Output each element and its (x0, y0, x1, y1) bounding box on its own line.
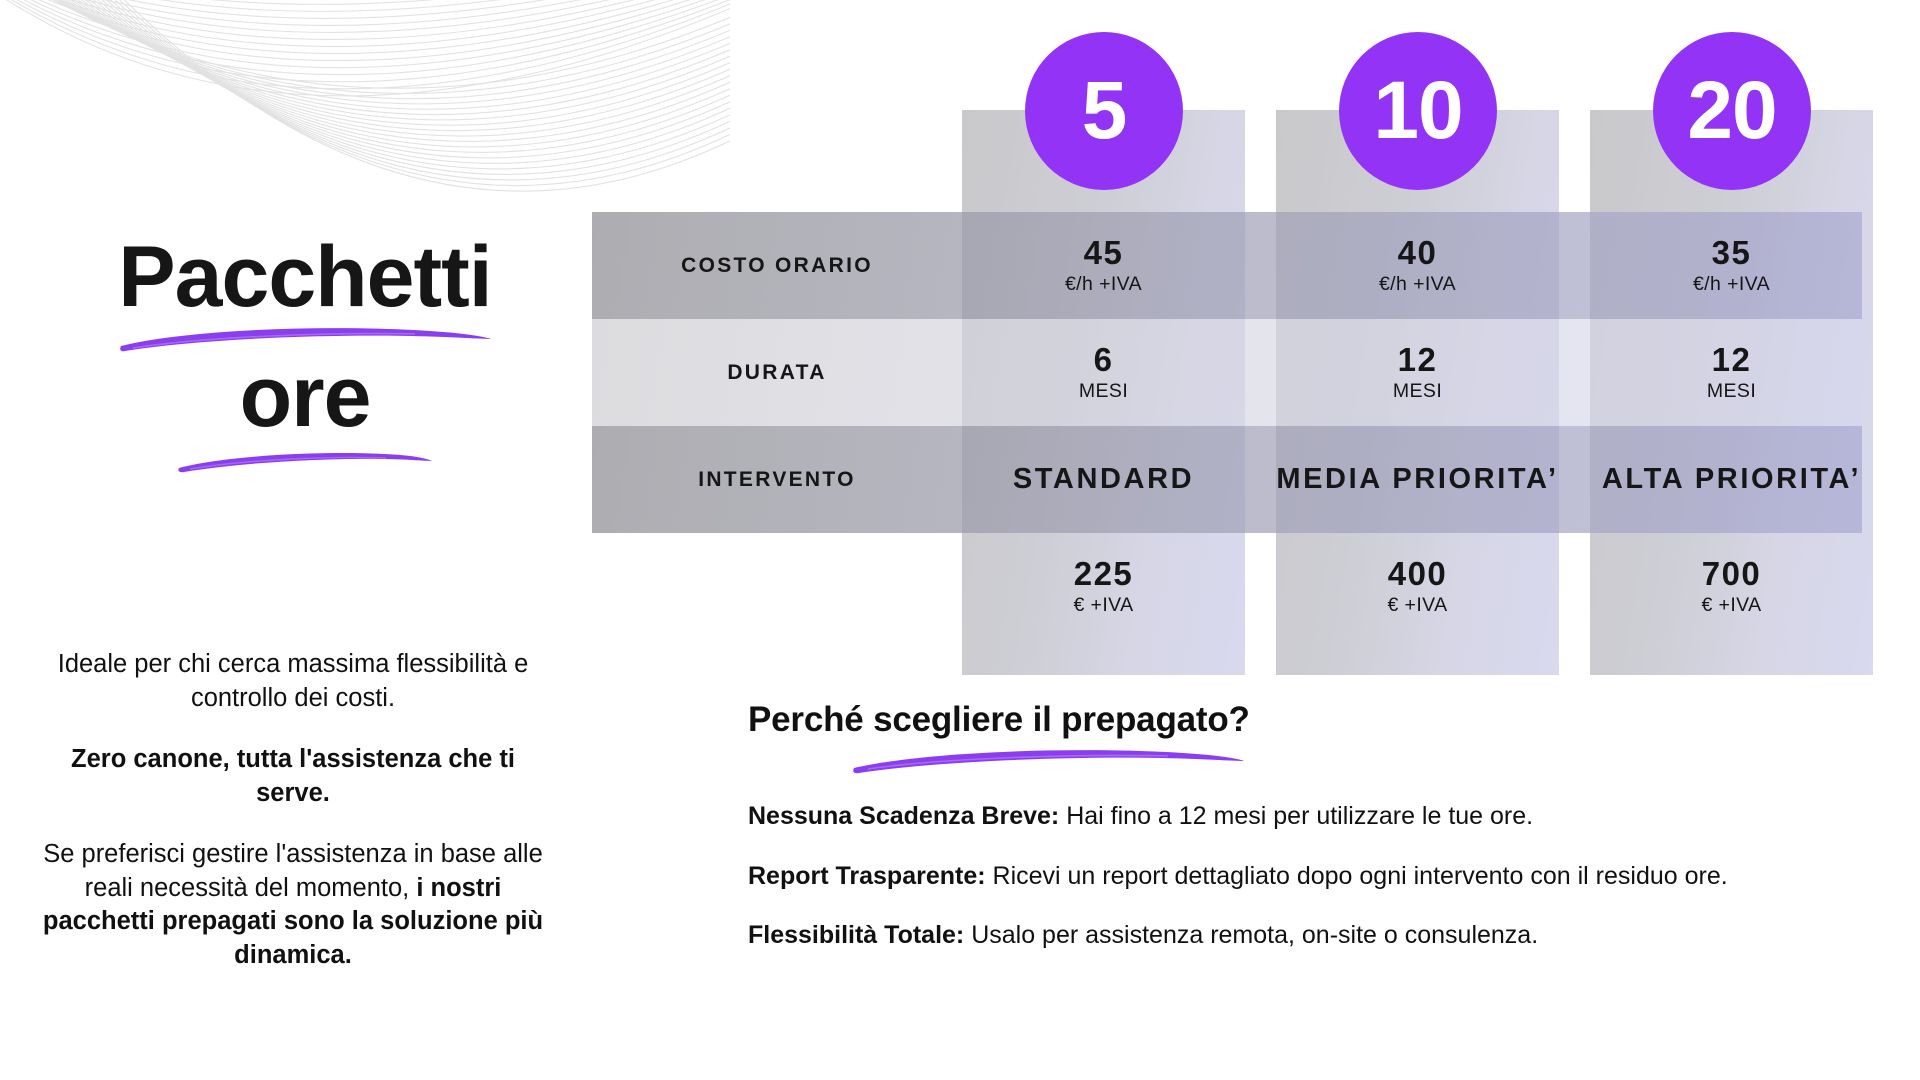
cell-value: 35 (1712, 235, 1752, 271)
row-label-durata: DURATA (592, 319, 962, 426)
cell-value: 225 (1074, 556, 1134, 592)
benefit-rest: Hai fino a 12 mesi per utilizzare le tue… (1059, 802, 1533, 830)
hours-badge-5: 5 (1025, 32, 1183, 190)
cell-value: 12 (1398, 342, 1438, 378)
cell-unit: MESI (1079, 380, 1128, 403)
cell-costo-orario-20: 35 €/h +IVA (1590, 212, 1873, 319)
brush-underline-why (848, 744, 1248, 776)
left-paragraph-2: Zero canone, tutta l'assistenza che ti s… (38, 743, 548, 811)
row-label-intervento: INTERVENTO (592, 426, 962, 533)
cell-value: ALTA PRIORITA’ (1602, 462, 1861, 497)
left-paragraph-3: Se preferisci gestire l'assistenza in ba… (38, 838, 548, 974)
cell-prezzo-20: 700 € +IVA (1590, 533, 1873, 640)
benefit-rest: Usalo per assistenza remota, on-site o c… (964, 921, 1538, 949)
brush-underline-title-2 (174, 448, 436, 476)
cell-costo-orario-5: 45 €/h +IVA (962, 212, 1245, 319)
why-benefit-item: Report Trasparente: Ricevi un report det… (748, 860, 1878, 894)
cell-prezzo-10: 400 € +IVA (1276, 533, 1559, 640)
slide-canvas: Pacchetti ore Ideale per chi cerca massi… (0, 0, 1920, 1080)
benefit-lead: Nessuna Scadenza Breve: (748, 802, 1059, 830)
why-benefit-item: Flessibilità Totale: Usalo per assistenz… (748, 919, 1878, 953)
why-section-title: Perché scegliere il prepagato? (748, 700, 1878, 740)
why-benefits-list: Nessuna Scadenza Breve: Hai fino a 12 me… (748, 800, 1878, 953)
hours-badge-20: 20 (1653, 32, 1811, 190)
cell-value: 40 (1398, 235, 1438, 271)
cell-intervento-10: MEDIA PRIORITA’ (1276, 426, 1559, 533)
cell-value: STANDARD (1013, 462, 1194, 497)
cell-durata-5: 6 MESI (962, 319, 1245, 426)
cell-value: 700 (1702, 556, 1762, 592)
cell-intervento-5: STANDARD (962, 426, 1245, 533)
cell-unit: €/h +IVA (1693, 273, 1770, 296)
cell-costo-orario-10: 40 €/h +IVA (1276, 212, 1559, 319)
left-paragraph-1: Ideale per chi cerca massima flessibilit… (38, 648, 548, 716)
benefit-lead: Flessibilità Totale: (748, 921, 964, 949)
why-benefit-item: Nessuna Scadenza Breve: Hai fino a 12 me… (748, 800, 1878, 834)
title-line-2: ore (20, 355, 590, 439)
cell-durata-20: 12 MESI (1590, 319, 1873, 426)
row-label-costo-orario: COSTO ORARIO (592, 212, 962, 319)
cell-value: 400 (1388, 556, 1448, 592)
title-line-1: Pacchetti (20, 235, 590, 319)
cell-value: MEDIA PRIORITA’ (1276, 462, 1558, 497)
cell-unit: € +IVA (1701, 594, 1761, 617)
cell-unit: MESI (1393, 380, 1442, 403)
cell-prezzo-5: 225 € +IVA (962, 533, 1245, 640)
benefit-lead: Report Trasparente: (748, 862, 986, 890)
left-description-block: Ideale per chi cerca massima flessibilit… (38, 648, 548, 973)
why-prepaid-section: Perché scegliere il prepagato? Nessuna S… (748, 700, 1878, 953)
cell-value: 12 (1712, 342, 1752, 378)
pricing-table: COSTO ORARIO DURATA INTERVENTO 45 €/h +I… (592, 110, 1862, 675)
cell-unit: € +IVA (1073, 594, 1133, 617)
page-title: Pacchetti ore (20, 235, 590, 476)
cell-unit: MESI (1707, 380, 1756, 403)
hours-badge-10: 10 (1339, 32, 1497, 190)
cell-value: 6 (1094, 342, 1114, 378)
cell-intervento-20: ALTA PRIORITA’ (1590, 426, 1873, 533)
cell-durata-10: 12 MESI (1276, 319, 1559, 426)
cell-value: 45 (1084, 235, 1124, 271)
cell-unit: €/h +IVA (1379, 273, 1456, 296)
cell-unit: €/h +IVA (1065, 273, 1142, 296)
cell-unit: € +IVA (1387, 594, 1447, 617)
benefit-rest: Ricevi un report dettagliato dopo ogni i… (986, 862, 1728, 890)
